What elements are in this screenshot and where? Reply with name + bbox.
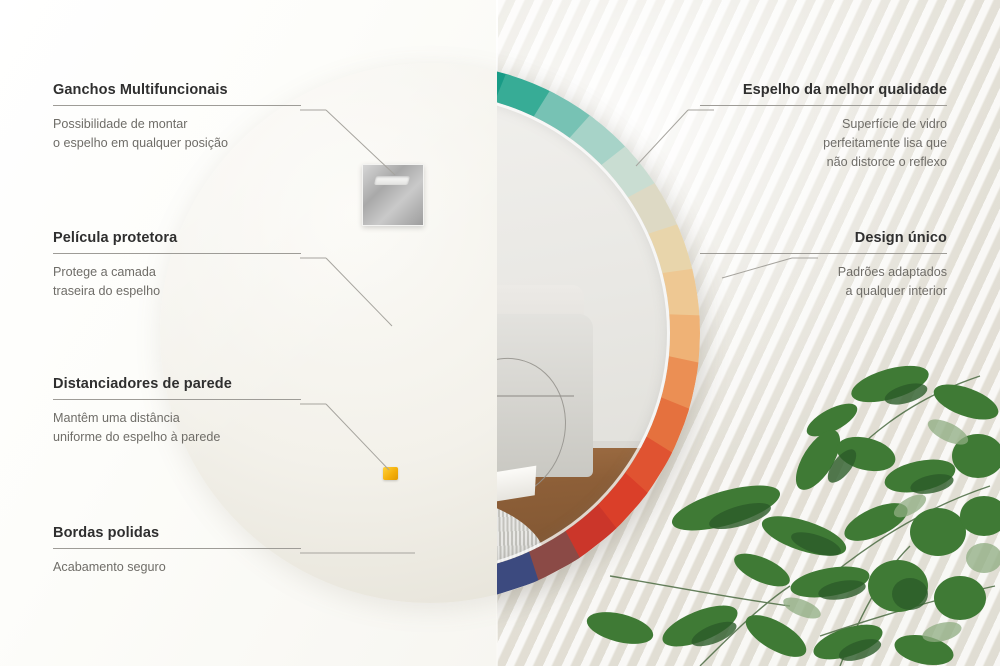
callout-espelho-qualidade: Espelho da melhor qualidade Superfície d…	[700, 82, 947, 172]
callout-body: Superfície de vidro perfeitamente lisa q…	[700, 115, 947, 172]
callout-rule	[53, 105, 301, 106]
hook-plate	[362, 164, 424, 226]
callout-body: Acabamento seguro	[53, 558, 301, 577]
callout-title: Distanciadores de parede	[53, 376, 301, 392]
callout-title: Espelho da melhor qualidade	[700, 82, 947, 98]
callout-body: Padrões adaptados a qualquer interior	[700, 263, 947, 301]
callout-title: Bordas polidas	[53, 525, 301, 541]
callout-body: Mantêm uma distância uniforme do espelho…	[53, 409, 301, 447]
callout-body: Protege a camada traseira do espelho	[53, 263, 301, 301]
decorative-plant	[580, 336, 1000, 666]
callout-pelicula: Película protetora Protege a camada tras…	[53, 230, 301, 301]
hook-slot	[374, 176, 410, 185]
callout-rule	[53, 548, 301, 549]
callout-distanciadores: Distanciadores de parede Mantêm uma dist…	[53, 376, 301, 447]
callout-title: Design único	[700, 230, 947, 246]
callout-rule	[53, 399, 301, 400]
callout-rule	[700, 105, 947, 106]
callout-design-unico: Design único Padrões adaptados a qualque…	[700, 230, 947, 301]
callout-bordas: Bordas polidas Acabamento seguro	[53, 525, 301, 577]
callout-title: Ganchos Multifuncionais	[53, 82, 301, 98]
wall-spacer-chip	[383, 467, 398, 480]
callout-rule	[53, 253, 301, 254]
callout-title: Película protetora	[53, 230, 301, 246]
callout-ganchos: Ganchos Multifuncionais Possibilidade de…	[53, 82, 301, 153]
infographic-canvas: Ganchos Multifuncionais Possibilidade de…	[0, 0, 1000, 666]
callout-rule	[700, 253, 947, 254]
callout-body: Possibilidade de montar o espelho em qua…	[53, 115, 301, 153]
